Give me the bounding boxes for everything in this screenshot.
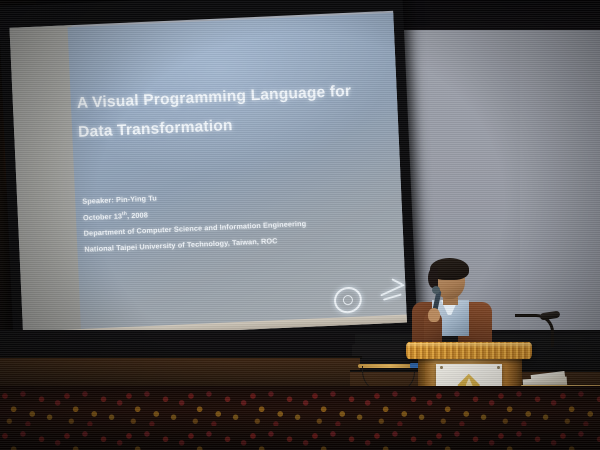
slide-title-line-1: A Visual Programming Language for (77, 83, 352, 113)
carpet-shading (0, 386, 600, 450)
presentation-photo-scene: A Visual Programming Language for Data T… (0, 0, 600, 450)
microphone-head (432, 286, 440, 294)
slide-affiliation-line: National Taipei University of Technology… (84, 236, 278, 254)
ring-emblem-icon (331, 283, 366, 317)
hand (428, 308, 440, 322)
slide-department-line: Department of Computer Science and Infor… (83, 219, 306, 238)
date-prefix: October 13 (83, 211, 122, 222)
date-suffix: , 2008 (127, 210, 148, 220)
slide-speaker-line: Speaker: Pin-Ying Tu (82, 193, 157, 205)
far-right-wall (520, 0, 600, 345)
presenter-figure (410, 256, 496, 348)
sign-screw-left (440, 366, 443, 369)
slide-date-line: October 13th, 2008 (83, 210, 148, 222)
sign-screw-right (497, 366, 500, 369)
slide-content: A Visual Programming Language for Data T… (0, 0, 418, 354)
hair-side (428, 268, 438, 288)
projection-screen: A Visual Programming Language for Data T… (0, 0, 418, 354)
podium-desktop-highlight (406, 343, 532, 348)
slide-title-line-2: Data Transformation (78, 117, 233, 142)
script-signature-icon (377, 278, 408, 305)
